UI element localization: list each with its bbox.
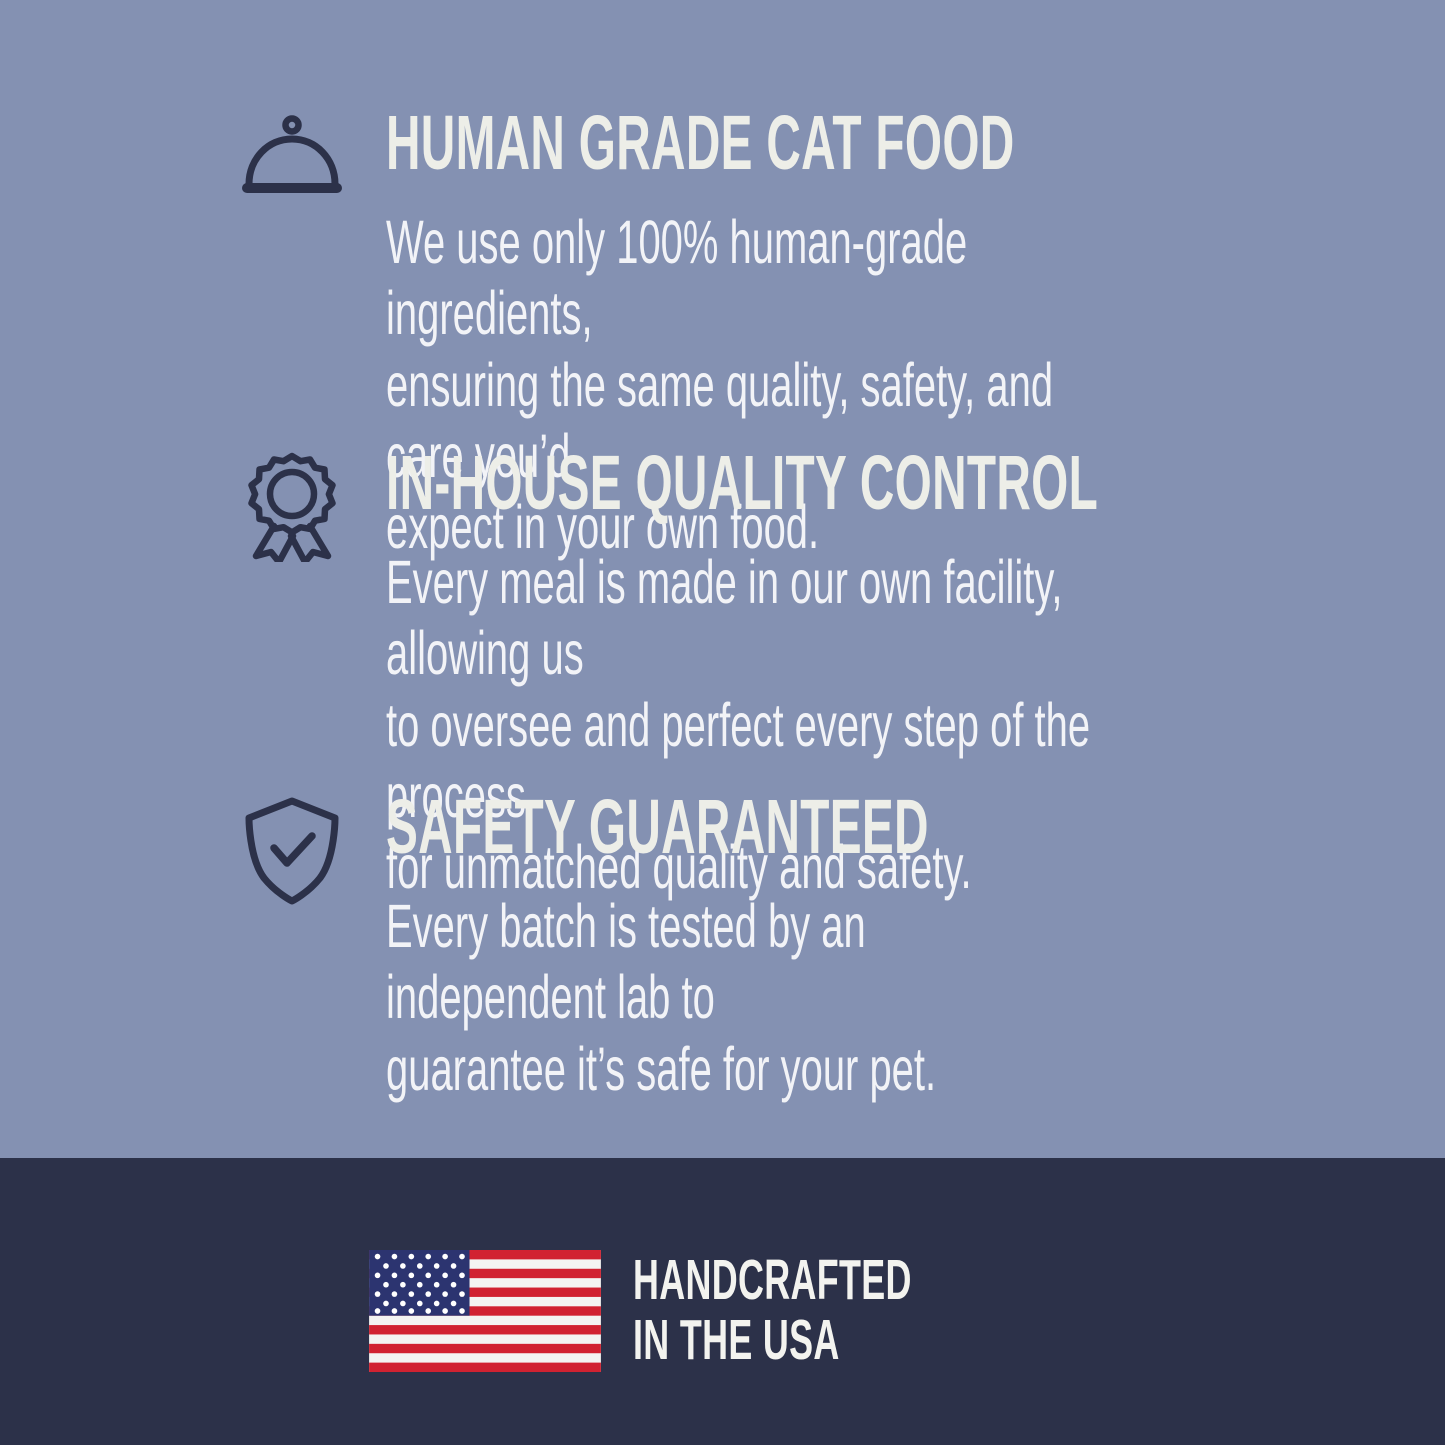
promo-poster: HUMAN GRADE CAT FOOD We use only 100% hu… xyxy=(0,0,1445,1445)
feature-description: Every batch is tested by an independent … xyxy=(386,891,1080,1105)
us-flag-icon xyxy=(369,1250,601,1372)
cloche-icon xyxy=(238,108,346,206)
shield-check-icon xyxy=(238,792,346,906)
footer-line-1: HANDCRAFTED xyxy=(633,1251,912,1311)
footer-text: HANDCRAFTED IN THE USA xyxy=(633,1251,912,1371)
footer-content: HANDCRAFTED IN THE USA xyxy=(369,1250,1075,1372)
feature-item-safety-guaranteed: SAFETY GUARANTEED Every batch is tested … xyxy=(238,792,1445,1105)
feature-list: HUMAN GRADE CAT FOOD We use only 100% hu… xyxy=(0,0,1445,1158)
feature-title: HUMAN GRADE CAT FOOD xyxy=(386,108,1043,179)
footer-banner: HANDCRAFTED IN THE USA xyxy=(0,1158,1445,1445)
footer-line-2: IN THE USA xyxy=(633,1311,912,1371)
award-rosette-icon xyxy=(238,448,346,562)
feature-title: IN-HOUSE QUALITY CONTROL xyxy=(386,448,1098,519)
feature-title: SAFETY GUARANTEED xyxy=(386,792,1043,863)
feature-body: SAFETY GUARANTEED Every batch is tested … xyxy=(386,792,1445,1105)
